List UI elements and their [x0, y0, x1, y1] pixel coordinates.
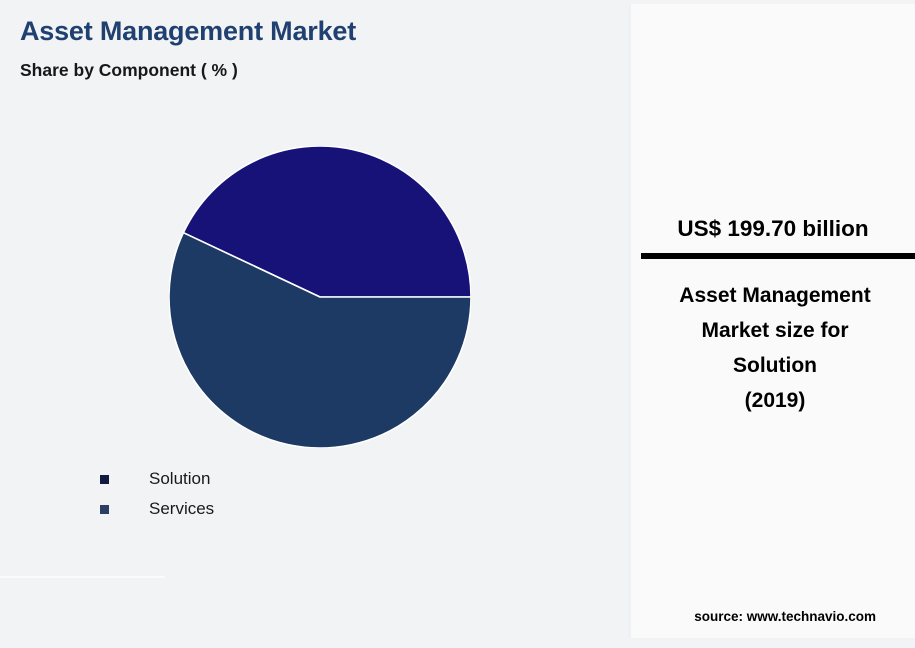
- callout-caption-line-4: (2019): [639, 383, 911, 418]
- legend-item-solution[interactable]: Solution: [100, 464, 214, 494]
- callout-divider: [641, 253, 915, 259]
- callout-caption-line-1: Asset Management: [639, 278, 911, 313]
- callout-caption-line-3: Solution: [639, 348, 911, 383]
- baseline-divider: [0, 576, 165, 578]
- legend-swatch-services-icon: [100, 505, 109, 514]
- legend-label-solution: Solution: [149, 469, 210, 489]
- chart-region: Asset Management Market Share by Compone…: [0, 0, 628, 648]
- legend-item-services[interactable]: Services: [100, 494, 214, 524]
- pie-chart: [169, 146, 471, 448]
- source-note: source: www.technavio.com: [694, 609, 876, 624]
- chart-subtitle: Share by Component ( % ): [20, 60, 238, 81]
- callout-caption: Asset Management Market size for Solutio…: [639, 278, 911, 418]
- callout-panel: US$ 199.70 billion Asset Management Mark…: [628, 4, 915, 638]
- callout-value: US$ 199.70 billion: [631, 216, 915, 242]
- page-title: Asset Management Market: [20, 16, 356, 47]
- chart-legend: Solution Services: [100, 464, 214, 524]
- legend-swatch-solution-icon: [100, 475, 109, 484]
- legend-label-services: Services: [149, 499, 214, 519]
- pie-slice-group: [169, 146, 471, 448]
- pie-chart-svg: [169, 146, 471, 448]
- callout-caption-line-2: Market size for: [639, 313, 911, 348]
